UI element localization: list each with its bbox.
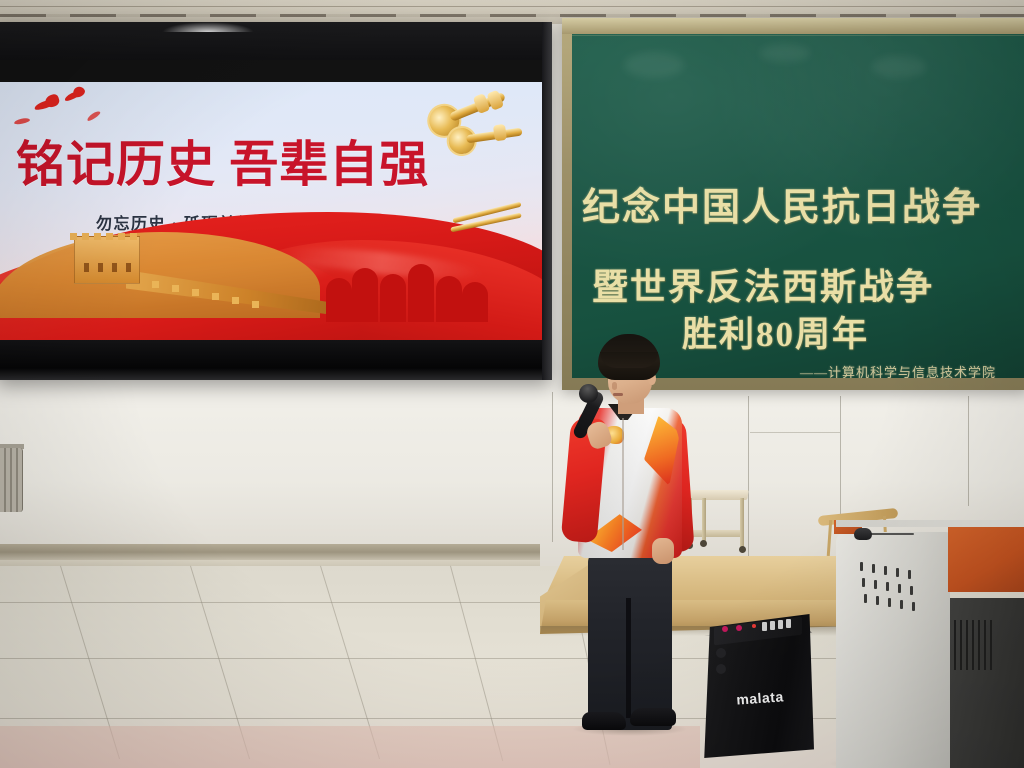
shoe [582,712,626,730]
table-caster [739,546,746,553]
crowd-silhouette [326,258,486,322]
tower-window [84,263,89,272]
chalkboard-line-2: 暨世界反法西斯战争 [592,258,934,310]
radiator-icon [0,448,23,512]
shoe [630,708,676,726]
slide-content: 铭记历史 吾辈自强 勿忘历史 · 砥砺前行—抗战胜利80周年 汇报人： 蔡兆飞 [0,82,542,344]
presenter [560,330,690,730]
wall-panel-seam [748,396,749,566]
table-leg [702,498,706,542]
leg-separation [626,598,631,718]
speaker-led [752,624,756,628]
ceiling-cable [0,14,1024,17]
presentation-screen[interactable]: 铭记历史 吾辈自强 勿忘历史 · 砥砺前行—抗战胜利80周年 汇报人： 蔡兆飞 [0,22,552,380]
rolling-table-shelf [687,530,742,537]
trumpet-icon [444,112,538,183]
chalkboard-line-3: 胜利80周年 [682,306,869,357]
teaching-lectern[interactable] [836,520,1024,768]
table-caster [700,540,707,547]
nose [612,382,617,390]
great-wall-battlement [70,233,142,240]
speaker-driver [716,664,726,674]
mouth [613,393,623,396]
speaker-switch[interactable] [778,620,783,629]
chalkboard-signature: ——计算机科学与信息技术学院 [800,362,996,378]
screen-right-edge [542,22,552,380]
screen-glare [162,22,254,32]
right-hand [652,538,674,564]
great-wall-tower [74,236,140,284]
mouse-cable [870,533,914,535]
lectern-top-rail [836,520,1024,527]
wall-panel-seam [552,392,553,542]
wall-panel-seam [750,432,840,433]
speaker-knob[interactable] [736,625,742,631]
classroom-scene: 铭记历史 吾辈自强 勿忘历史 · 砥砺前行—抗战胜利80周年 汇报人： 蔡兆飞 [0,0,1024,768]
ceiling-seam [0,6,1024,7]
screen-bottom-bezel [0,340,552,380]
lectern-desktop-panel [948,526,1024,592]
lectern-body [836,532,950,768]
speaker-switch[interactable] [786,619,791,628]
jacket-zipper [622,418,624,550]
hair-fringe [600,352,658,368]
screen-top-bezel [0,22,552,60]
tower-window [126,263,131,272]
speaker-knob[interactable] [722,626,728,632]
speaker-driver [716,648,726,658]
chalkboard[interactable]: 纪念中国人民抗日战争 暨世界反法西斯战争 胜利80周年 ——计算机科学与信息技术… [572,34,1024,378]
wall-panel-seam [840,396,841,526]
tower-window [112,263,117,272]
wall-panel-seam [968,396,969,506]
chalkboard-line-1: 纪念中国人民抗日战争 [582,176,982,231]
table-leg [740,498,744,548]
chalkboard-frame-top [562,18,1024,34]
tower-window [98,263,103,272]
speaker-switch[interactable] [762,622,767,631]
speaker-switch[interactable] [770,621,775,630]
